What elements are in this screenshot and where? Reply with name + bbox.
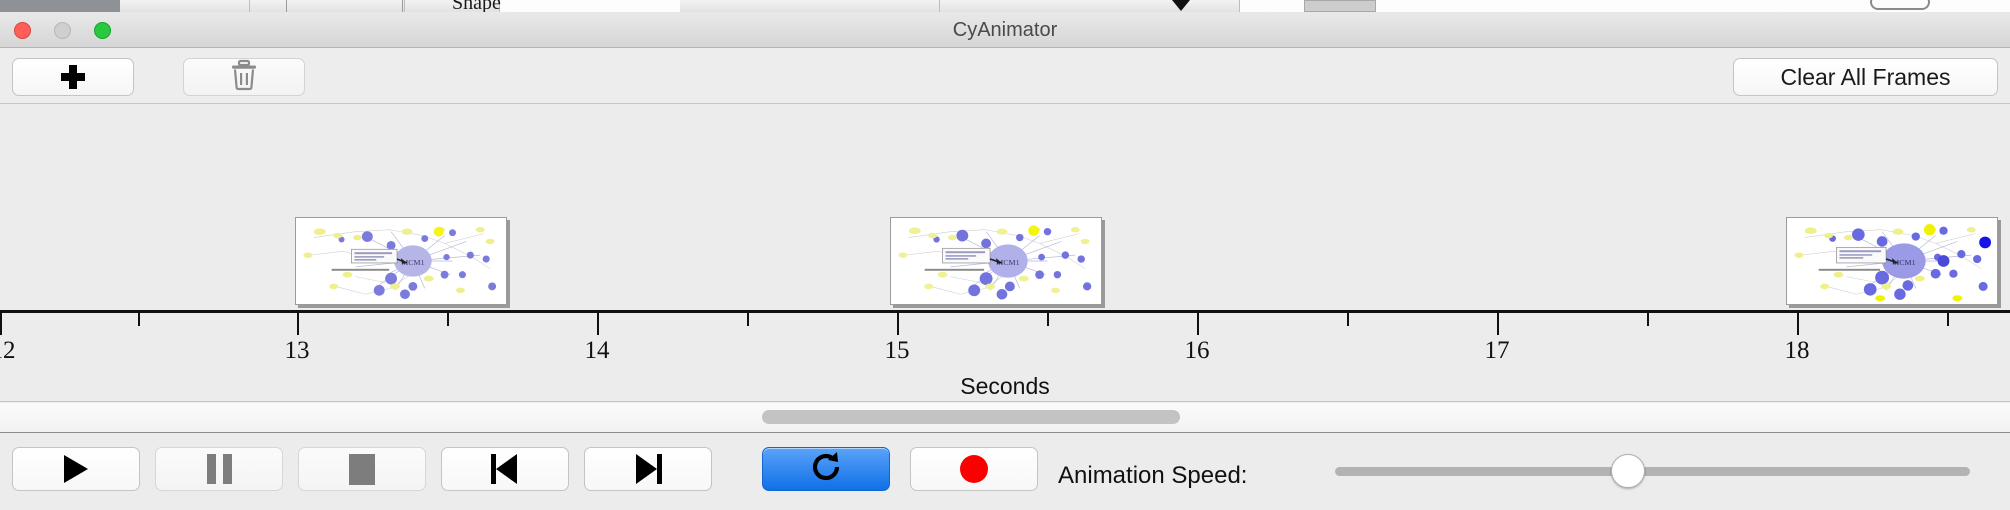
axis-tick-minor <box>1947 313 1949 326</box>
plus-icon <box>60 64 86 90</box>
pause-button[interactable] <box>155 447 283 491</box>
skip-back-icon <box>491 454 519 484</box>
axis-tick-label: 16 <box>1185 337 1210 365</box>
trash-icon <box>229 59 259 96</box>
background-window-segment <box>680 0 940 12</box>
loop-icon <box>809 450 843 489</box>
axis-tick-major <box>597 313 599 335</box>
skip-forward-button[interactable] <box>584 447 712 491</box>
axis-title: Seconds <box>0 373 2010 400</box>
axis-tick-label: 18 <box>1785 337 1810 365</box>
axis-tick-minor <box>1047 313 1049 326</box>
axis-tick-label: 17 <box>1485 337 1510 365</box>
skip-forward-icon <box>634 454 662 484</box>
axis-tick-minor <box>747 313 749 326</box>
axis-tick-minor <box>1647 313 1649 326</box>
axis-tick-minor <box>447 313 449 326</box>
loop-button[interactable] <box>762 447 890 491</box>
animation-speed-label: Animation Speed: <box>1058 462 1247 490</box>
background-window-segment <box>120 0 250 12</box>
clear-all-frames-button[interactable]: Clear All Frames <box>1733 58 1998 96</box>
axis-tick-minor <box>138 313 140 326</box>
frame-thumbnail-1[interactable]: MCM1 <box>295 217 507 305</box>
axis-tick-major <box>1197 313 1199 335</box>
axis-tick-label: 15 <box>885 337 910 365</box>
playback-toolbar: Animation Speed: <box>0 434 2010 510</box>
background-window-strip: Shape <box>0 0 2010 12</box>
axis-tick-major <box>1497 313 1499 335</box>
axis-tick-minor <box>1347 313 1349 326</box>
background-cursor-icon <box>1172 0 1190 11</box>
window-title: CyAnimator <box>0 12 2010 48</box>
stop-button[interactable] <box>298 447 426 491</box>
background-divider <box>286 0 287 12</box>
axis-tick-label: 14 <box>585 337 610 365</box>
axis-tick-major <box>0 313 2 335</box>
slider-knob[interactable] <box>1611 454 1645 488</box>
background-window-segment <box>940 0 1240 12</box>
scrollbar-thumb[interactable] <box>762 410 1180 424</box>
background-window-label: Shape <box>452 0 501 12</box>
delete-frame-button[interactable] <box>183 58 305 96</box>
pause-icon <box>207 454 232 484</box>
background-window-segment <box>250 0 405 12</box>
background-rounded-widget <box>1870 0 1930 10</box>
axis-tick-major <box>297 313 299 335</box>
play-icon <box>64 455 88 483</box>
stop-icon <box>349 454 375 485</box>
timeline-scrollbar[interactable] <box>0 403 2010 433</box>
animation-speed-slider[interactable] <box>1335 467 1970 476</box>
record-button[interactable] <box>910 447 1038 491</box>
play-button[interactable] <box>12 447 140 491</box>
record-icon <box>960 455 988 483</box>
timeline-panel[interactable]: MCM1 <box>0 105 2010 402</box>
skip-back-button[interactable] <box>441 447 569 491</box>
axis-tick-major <box>897 313 899 335</box>
cyanimator-window: Shape CyAnimator Clear All Frames <box>0 0 2010 510</box>
toolbar: Clear All Frames <box>0 48 2010 104</box>
titlebar: CyAnimator <box>0 12 2010 48</box>
background-field <box>1304 0 1376 12</box>
frame-thumbnail-3[interactable]: MCM1 <box>1786 217 1998 305</box>
background-window-titlebar <box>0 0 120 12</box>
axis-tick-label: 12 <box>0 337 16 365</box>
axis-tick-label: 13 <box>285 337 310 365</box>
add-frame-button[interactable] <box>12 58 134 96</box>
timeline-axis <box>0 310 2010 313</box>
frame-thumbnail-2[interactable]: MCM1 <box>890 217 1102 305</box>
axis-tick-major <box>1797 313 1799 335</box>
slider-track[interactable] <box>1335 467 1970 476</box>
background-divider <box>402 0 403 12</box>
